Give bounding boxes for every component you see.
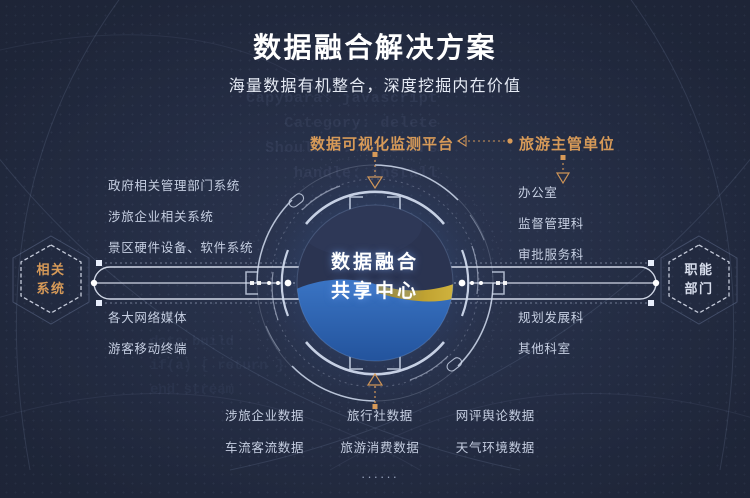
- list-item: 各大网络媒体: [108, 307, 187, 326]
- list-item: 办公室: [518, 182, 584, 201]
- center-line2: 共享中心: [0, 277, 750, 306]
- list-right-top: 办公室 监督管理科 审批服务科: [518, 182, 584, 275]
- list-item: 审批服务科: [518, 244, 584, 263]
- code-watermark-secondary: data build if(a) { return } end stream: [150, 330, 470, 402]
- top-label-arrow: [458, 136, 513, 146]
- hexagon-right-line1: 职能: [684, 260, 713, 279]
- label-tourism-authority: 旅游主管单位: [519, 133, 615, 154]
- hexagon-left-line2: 系统: [36, 279, 65, 298]
- label-visualization-platform: 数据可视化监测平台: [310, 133, 454, 154]
- list-item: 政府相关管理部门系统: [108, 175, 253, 194]
- list-item: 其他科室: [518, 338, 584, 357]
- data-cell: 旅行社数据: [330, 405, 430, 424]
- hexagon-functional-departments: 职能 部门: [656, 233, 742, 325]
- list-item: 监督管理科: [518, 213, 584, 232]
- data-cell: 涉旅企业数据: [225, 405, 325, 424]
- list-left-bottom: 各大网络媒体 游客移动终端: [108, 307, 187, 369]
- hexagon-right-label: 职能 部门: [656, 233, 742, 325]
- data-cell: 天气环境数据: [435, 437, 535, 456]
- page-subtitle: 海量数据有机整合，深度挖掘内在价值: [0, 72, 750, 96]
- list-item: 景区硬件设备、软件系统: [108, 237, 253, 256]
- data-cell: 旅游消费数据: [330, 437, 430, 456]
- data-cell: 车流客流数据: [225, 437, 325, 456]
- list-right-bottom: 规划发展科 其他科室: [518, 307, 584, 369]
- data-ellipsis: ······: [225, 469, 535, 484]
- bottom-data-grid: 涉旅企业数据 旅行社数据 网评舆论数据 车流客流数据 旅游消费数据 天气环境数据…: [225, 405, 535, 484]
- hexagon-left-line1: 相关: [36, 260, 65, 279]
- list-item: 游客移动终端: [108, 338, 187, 357]
- page-title: 数据融合解决方案: [0, 26, 750, 66]
- central-sphere: [290, 193, 468, 375]
- list-item: 规划发展科: [518, 307, 584, 326]
- infographic-canvas: Capybara: javascript Category: delete Sh…: [0, 0, 750, 498]
- list-item: 涉旅企业相关系统: [108, 206, 253, 225]
- hud-rings: [246, 155, 507, 411]
- data-row: 车流客流数据 旅游消费数据 天气环境数据: [225, 437, 535, 456]
- list-left-top: 政府相关管理部门系统 涉旅企业相关系统 景区硬件设备、软件系统: [108, 175, 253, 268]
- hexagon-related-systems: 相关 系统: [8, 233, 94, 325]
- data-row: 涉旅企业数据 旅行社数据 网评舆论数据: [225, 405, 535, 424]
- hexagon-right-line2: 部门: [684, 279, 713, 298]
- hexagon-left-label: 相关 系统: [8, 233, 94, 325]
- data-cell: 网评舆论数据: [435, 405, 535, 424]
